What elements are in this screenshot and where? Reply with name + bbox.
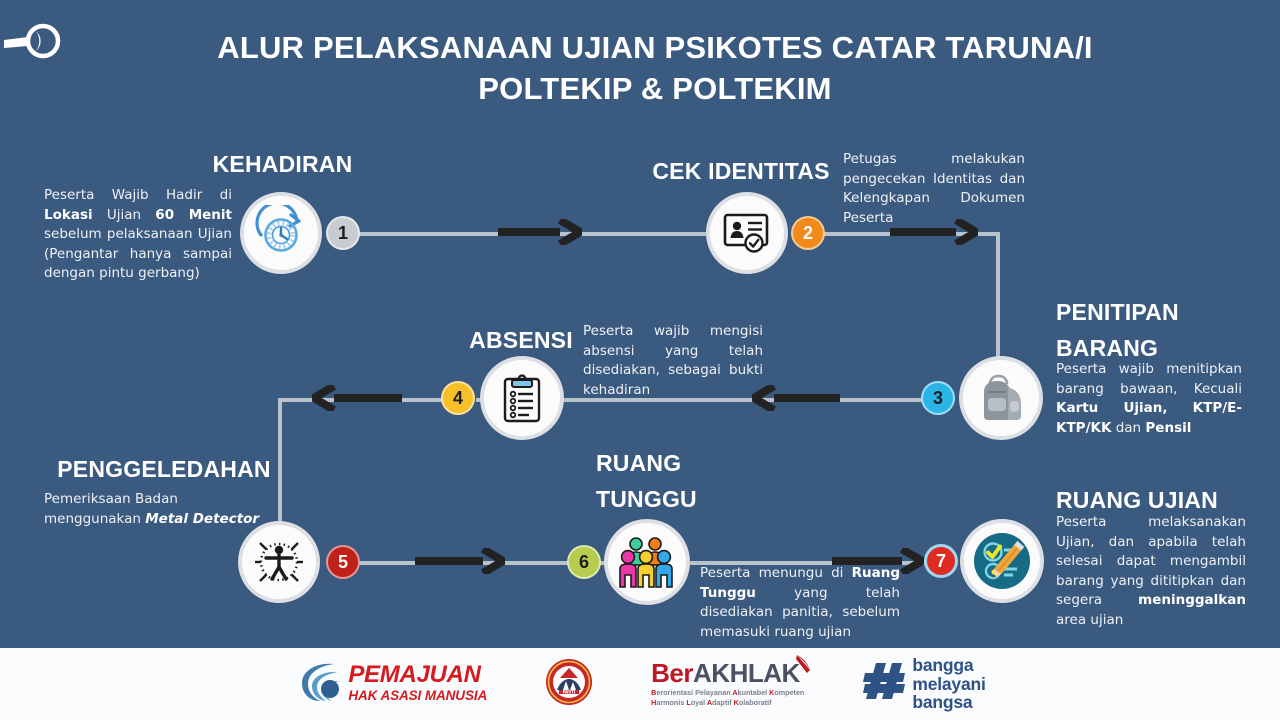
step-title-cek-identitas: CEK IDENTITAS (645, 155, 837, 188)
pemajuan-ham-logo: PEMAJUAN HAK ASASI MANUSIA (294, 659, 487, 710)
step-badge-5-number: 5 (338, 552, 348, 573)
clipboard-checklist-icon (498, 372, 546, 424)
step-badge-2[interactable]: 2 (791, 216, 825, 250)
arrow-left-step3-step4 (752, 385, 840, 411)
step-title-ruang-tunggu: RUANG TUNGGU (596, 445, 766, 518)
step-badge-6-number: 6 (579, 552, 589, 573)
step-badge-1-number: 1 (338, 223, 348, 244)
people-group-icon (616, 533, 678, 591)
step-body-text: Peserta Wajib Hadir di Lokasi Ujian 60 M… (44, 187, 232, 281)
step-badge-3[interactable]: 3 (921, 381, 955, 415)
step-badge-7[interactable]: 7 (924, 544, 958, 578)
pasti-seal-label: PASTI (563, 689, 576, 694)
step-node-cek-identitas[interactable] (706, 192, 788, 274)
step-badge-1[interactable]: 1 (326, 216, 360, 250)
berakhlak-tagline: Berorientasi Pelayanan Akuntabel Kompete… (651, 688, 804, 707)
step-badge-4[interactable]: 4 (441, 381, 475, 415)
step-node-ruang-tunggu[interactable] (604, 519, 690, 605)
step-body-text: Peserta menungu di Ruang Tunggu yang tel… (700, 565, 900, 640)
step-title-penitipan-barang: PENITIPAN BARANG (1056, 295, 1266, 366)
step-body-cek-identitas: Petugas melakukan pengecekan Identitas d… (843, 150, 1025, 228)
step-body-text: Peserta wajib menitipkan barang bawaan, … (1056, 361, 1242, 436)
step-node-penitipan-barang[interactable] (959, 356, 1043, 440)
exam-pencil-check-icon (971, 530, 1033, 592)
arrow-right-step5-step6 (415, 548, 505, 574)
step-node-ruang-ujian[interactable] (960, 519, 1044, 603)
step-body-text: Peserta wajib mengisi absensi yang telah… (583, 323, 763, 398)
step-badge-7-number: 7 (936, 551, 946, 572)
arrow-right-step1-step2 (498, 219, 582, 245)
berakhlak-logo: BerAKHLAK Berorientasi Pelayanan Akuntab… (651, 660, 804, 707)
connector-2-3-vertical (996, 232, 1000, 374)
step-body-ruang-ujian: Peserta melaksanakan Ujian, dan apabila … (1056, 513, 1246, 630)
step-badge-4-number: 4 (453, 388, 463, 409)
magnifier-loupe-icon (2, 18, 72, 66)
backpack-icon (975, 372, 1027, 424)
infographic-canvas: ALUR PELAKSANAAN UJIAN PSIKOTES CATAR TA… (0, 0, 1280, 720)
step-node-absensi[interactable] (480, 356, 564, 440)
red-circular-seal-icon: PASTI (545, 658, 593, 711)
pemajuan-line-1: PEMAJUAN (348, 663, 487, 687)
hash-icon (862, 659, 908, 708)
bmb-line-2: melayani (912, 675, 985, 694)
body-scan-icon (252, 535, 306, 589)
step-body-text: Peserta melaksanakan Ujian, dan apabila … (1056, 514, 1246, 628)
wave-swirl-icon (294, 659, 342, 710)
bmb-line-3: bangsa (912, 693, 985, 712)
step-badge-5[interactable]: 5 (326, 545, 360, 579)
step-badge-2-number: 2 (803, 223, 813, 244)
step-badge-3-number: 3 (933, 388, 943, 409)
step-body-penitipan-barang: Peserta wajib menitipkan barang bawaan, … (1056, 360, 1242, 438)
step-title-penggeledahan: PENGGELEDAHAN (52, 453, 276, 486)
page-title-line-2: POLTEKIP & POLTEKIM (120, 69, 1190, 110)
footer-logo-bar: PEMAJUAN HAK ASASI MANUSIA PASTI (0, 648, 1280, 720)
step-node-penggeledahan[interactable] (238, 521, 320, 603)
step-title-kehadiran: KEHADIRAN (180, 148, 385, 181)
step-body-penggeledahan: Pemeriksaan Badan menggunakan Metal Dete… (44, 490, 262, 529)
step-title-text: RUANG TUNGGU (596, 450, 697, 512)
pemajuan-line-2: HAK ASASI MANUSIA (348, 688, 487, 704)
step-body-text: Petugas melakukan pengecekan Identitas d… (843, 151, 1025, 226)
bmb-line-1: bangga (912, 656, 985, 675)
step-body-ruang-tunggu: Peserta menungu di Ruang Tunggu yang tel… (700, 564, 900, 642)
berakhlak-part-1: Ber (651, 658, 693, 688)
clock-refresh-icon (253, 205, 309, 261)
kemenkumham-pasti-seal: PASTI (545, 658, 593, 711)
arrow-left-step4-step5 (312, 385, 402, 411)
step-badge-6[interactable]: 6 (567, 545, 601, 579)
step-body-kehadiran: Peserta Wajib Hadir di Lokasi Ujian 60 M… (44, 186, 232, 284)
step-title-text: PENITIPAN BARANG (1056, 299, 1179, 361)
id-card-check-icon (721, 210, 773, 256)
berakhlak-swoosh-icon (795, 653, 813, 680)
berakhlak-wordmark: BerAKHLAK (651, 660, 804, 686)
page-title: ALUR PELAKSANAAN UJIAN PSIKOTES CATAR TA… (120, 28, 1190, 110)
berakhlak-part-2: AKHLAK (693, 658, 800, 688)
connector-4-5-vertical (278, 398, 282, 528)
step-title-absensi: ABSENSI (462, 324, 580, 357)
step-body-absensi: Peserta wajib mengisi absensi yang telah… (583, 322, 763, 400)
step-node-kehadiran[interactable] (240, 192, 322, 274)
bangga-melayani-bangsa-logo: bangga melayani bangsa (862, 656, 985, 713)
step-body-text: Pemeriksaan Badan menggunakan Metal Dete… (44, 491, 259, 527)
page-title-line-1: ALUR PELAKSANAAN UJIAN PSIKOTES CATAR TA… (120, 28, 1190, 69)
